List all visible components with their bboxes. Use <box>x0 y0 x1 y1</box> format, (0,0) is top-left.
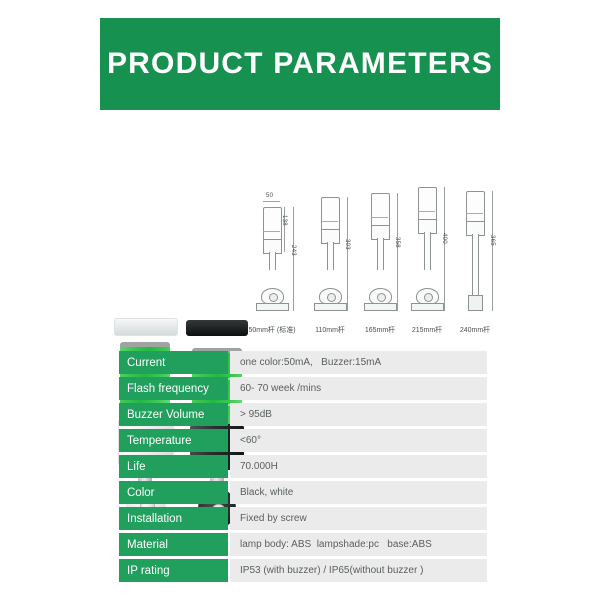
drawing-215mm: 400 215mm杆 <box>403 190 451 335</box>
page-title: PRODUCT PARAMETERS <box>107 47 493 81</box>
product-photo-area: OUYAN OUYAN <box>104 126 254 336</box>
dim-line-width <box>263 201 280 202</box>
spec-value-flash-frequency: 60- 70 week /mins <box>230 377 487 400</box>
drawing-knob <box>424 293 433 302</box>
drawing-art: 303 <box>306 193 354 311</box>
drawing-shade <box>321 197 340 231</box>
spec-label-buzzer-volume: Buzzer Volume <box>119 403 228 426</box>
drawing-base <box>256 303 289 311</box>
technical-drawings: 50 138 243 50mm杆 (标准) 303 110mm杆 <box>248 190 496 335</box>
drawing-art: 358 <box>356 193 404 311</box>
drawing-knob <box>377 293 386 302</box>
drawing-165mm: 358 165mm杆 <box>356 190 404 335</box>
spec-value-life: 70.000H <box>230 455 487 478</box>
drawing-50mm: 50 138 243 50mm杆 (标准) <box>248 190 296 335</box>
table-row: Flash frequency 60- 70 week /mins <box>119 377 487 400</box>
table-row: Life 70.000H <box>119 455 487 478</box>
spec-value-installation: Fixed by screw <box>230 507 487 530</box>
drawing-base <box>364 303 397 311</box>
spec-value-material: lamp body: ABS lampshade:pc base:ABS <box>230 533 487 556</box>
dim-label-total: 400 <box>441 233 447 244</box>
drawing-shade <box>466 191 485 223</box>
spec-label-life: Life <box>119 455 228 478</box>
drawing-pole <box>269 252 276 270</box>
drawing-knob <box>327 293 336 302</box>
drawing-shade-seam <box>371 217 388 218</box>
drawing-110mm: 303 110mm杆 <box>306 190 354 335</box>
drawing-shade <box>418 187 437 221</box>
dim-line-total <box>293 207 294 311</box>
drawing-pole <box>377 238 384 270</box>
drawing-shade-seam <box>321 221 338 222</box>
drawing-clamp <box>468 295 483 311</box>
mounting-base <box>186 320 248 336</box>
drawing-shade-seam <box>263 231 280 232</box>
table-row: Current one color:50mA, Buzzer:15mA <box>119 351 487 374</box>
drawing-pole <box>472 234 479 296</box>
drawing-knob <box>269 293 278 302</box>
dim-line-total <box>347 197 348 311</box>
spec-label-current: Current <box>119 351 228 374</box>
dim-label-inner: 138 <box>281 215 287 226</box>
drawing-base <box>411 303 444 311</box>
dim-line-inner <box>284 207 285 252</box>
drawing-240mm: 365 240mm杆 <box>451 190 499 335</box>
spec-label-temperature: Temperature <box>119 429 228 452</box>
drawing-shade-seam <box>466 213 483 214</box>
drawing-shade <box>263 207 282 241</box>
table-row: Temperature <60° <box>119 429 487 452</box>
table-row: Material lamp body: ABS lampshade:pc bas… <box>119 533 487 556</box>
drawing-pole <box>424 232 431 270</box>
drawing-shade <box>371 193 390 227</box>
drawing-caption: 50mm杆 (标准) <box>242 325 302 335</box>
spec-label-flash-frequency: Flash frequency <box>119 377 228 400</box>
table-row: IP rating IP53 (with buzzer) / IP65(with… <box>119 559 487 582</box>
shade-cap <box>120 342 170 347</box>
drawing-base <box>314 303 347 311</box>
spec-label-material: Material <box>119 533 228 556</box>
dim-line-total <box>492 191 493 311</box>
drawing-art: 365 <box>451 193 499 311</box>
drawing-art: 400 <box>403 193 451 311</box>
dim-line-total <box>397 193 398 311</box>
header-banner: PRODUCT PARAMETERS <box>100 18 500 110</box>
table-row: Buzzer Volume > 95dB <box>119 403 487 426</box>
spec-value-color: Black, white <box>230 481 487 504</box>
table-row: Color Black, white <box>119 481 487 504</box>
dim-line-total <box>444 187 445 311</box>
dim-label-total: 365 <box>489 235 495 246</box>
spec-label-ip-rating: IP rating <box>119 559 228 582</box>
mounting-base <box>114 318 178 336</box>
dim-label-width: 50 <box>266 193 273 199</box>
spec-label-installation: Installation <box>119 507 228 530</box>
drawing-art: 50 138 243 <box>248 193 296 311</box>
drawing-caption: 240mm杆 <box>445 325 505 335</box>
spec-label-color: Color <box>119 481 228 504</box>
spec-value-ip-rating: IP53 (with buzzer) / IP65(without buzzer… <box>230 559 487 582</box>
spec-value-current: one color:50mA, Buzzer:15mA <box>230 351 487 374</box>
spec-value-temperature: <60° <box>230 429 487 452</box>
drawing-pole <box>327 242 334 270</box>
spec-table: Current one color:50mA, Buzzer:15mA Flas… <box>119 351 487 585</box>
dim-label-total: 303 <box>344 239 350 250</box>
dim-label-total: 358 <box>394 237 400 248</box>
drawing-shade-seam <box>418 211 435 212</box>
table-row: Installation Fixed by screw <box>119 507 487 530</box>
spec-value-buzzer-volume: > 95dB <box>230 403 487 426</box>
dim-label-total: 243 <box>290 245 296 256</box>
